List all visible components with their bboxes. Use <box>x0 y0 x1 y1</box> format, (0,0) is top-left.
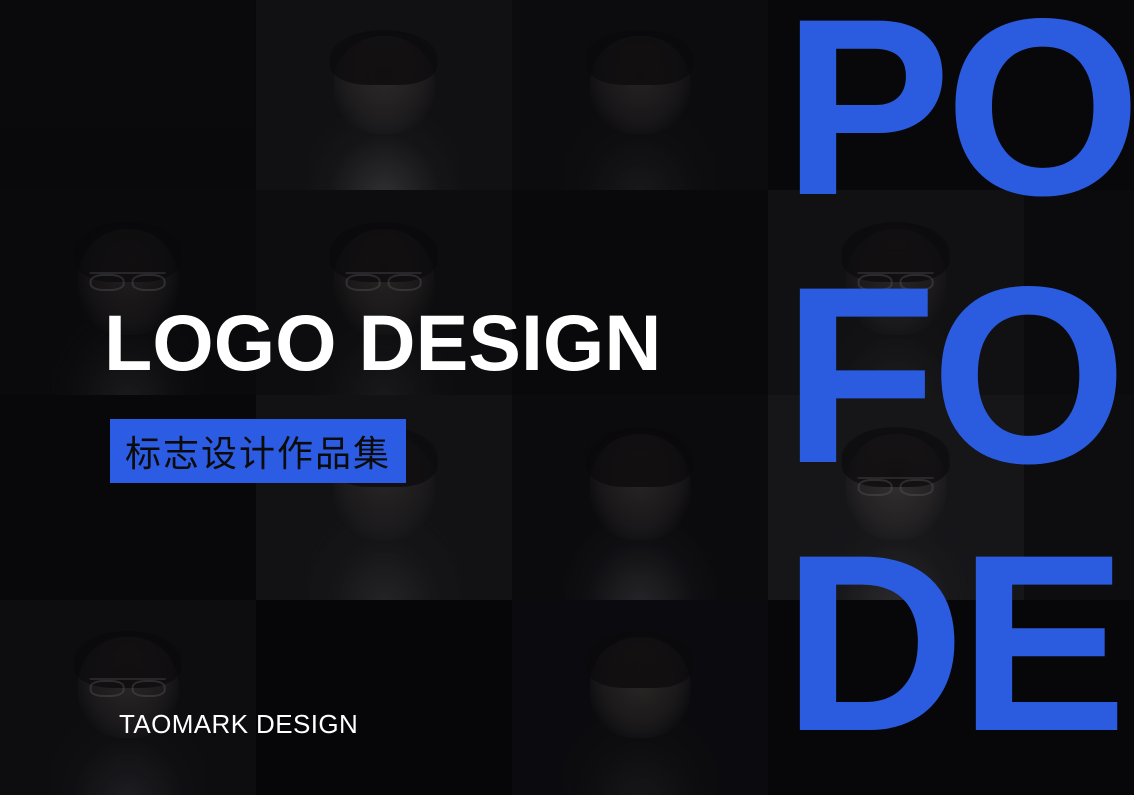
portfolio-display-text: PO FO DE <box>783 0 1134 778</box>
portrait-hair-shape <box>586 30 694 86</box>
portfolio-display-line-3: DE <box>783 510 1134 778</box>
portrait-photo <box>0 600 256 795</box>
portrait-face-shape <box>561 27 720 190</box>
tile-r4c2 <box>256 600 512 795</box>
glasses-icon <box>346 272 422 288</box>
subtitle-badge: 标志设计作品集 <box>110 419 406 483</box>
tile-r1c2 <box>256 0 512 190</box>
portrait-photo <box>256 0 512 190</box>
portrait-photo <box>512 600 768 795</box>
tile-r4c1 <box>0 600 256 795</box>
tile-r1c1 <box>0 0 256 190</box>
portrait-photo <box>512 0 768 190</box>
glasses-icon <box>90 272 166 288</box>
brand-label: TAOMARK DESIGN <box>119 709 358 740</box>
portrait-hair-shape <box>586 631 694 688</box>
portrait-photo <box>256 600 512 795</box>
tile-r3c3 <box>512 395 768 600</box>
glasses-icon <box>90 678 166 693</box>
portrait-hair-shape <box>330 30 438 86</box>
poster-canvas: PO FO DE LOGO DESIGN 标志设计作品集 TAOMARK DES… <box>0 0 1134 795</box>
portrait-hair-shape <box>586 427 694 487</box>
portrait-photo <box>512 395 768 600</box>
subtitle-label: 标志设计作品集 <box>125 425 391 477</box>
portrait-face-shape <box>305 27 464 190</box>
portrait-face-shape <box>561 627 720 795</box>
tile-r4c3 <box>512 600 768 795</box>
portfolio-display-line-2: FO <box>783 242 1134 510</box>
portrait-photo <box>0 0 256 190</box>
tile-r1c3 <box>512 0 768 190</box>
portrait-face-shape <box>561 424 720 600</box>
portfolio-display-line-1: PO <box>783 0 1134 242</box>
page-title: LOGO DESIGN <box>104 300 661 386</box>
